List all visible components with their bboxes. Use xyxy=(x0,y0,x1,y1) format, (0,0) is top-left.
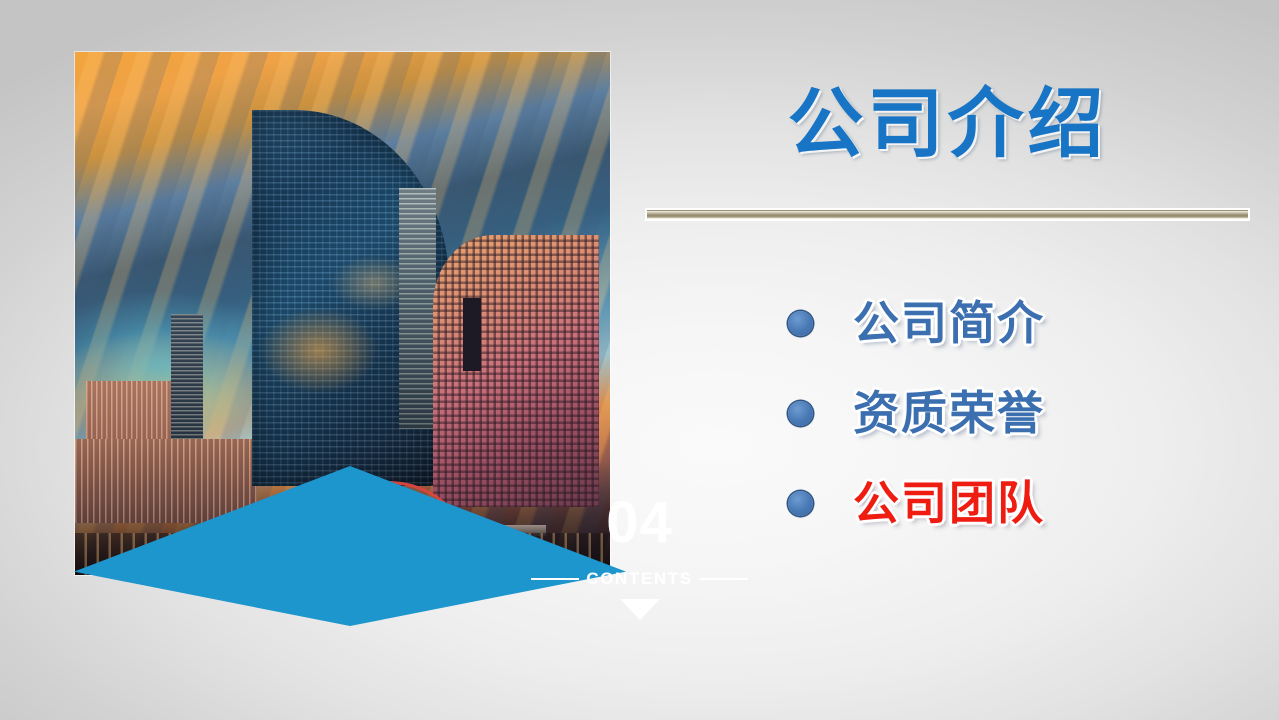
presentation-slide: 04 CONTENTS 公司介绍 公司简介 资质荣誉 公司团队 xyxy=(0,0,1279,720)
contents-rule-right xyxy=(700,578,748,580)
bullet-dot-icon xyxy=(788,401,813,426)
list-item[interactable]: 公司团队 xyxy=(645,458,1250,548)
slim-tower-building xyxy=(399,188,436,429)
title-divider xyxy=(645,208,1250,221)
list-item-label: 公司团队 xyxy=(853,480,1045,526)
contents-label: CONTENTS xyxy=(586,570,692,587)
page-title: 公司介绍 xyxy=(645,85,1250,165)
list-item[interactable]: 资质荣誉 xyxy=(645,368,1250,458)
down-triangle-glyph xyxy=(620,599,660,620)
list-item[interactable]: 公司简介 xyxy=(645,278,1250,368)
bullet-dot-icon xyxy=(788,491,813,516)
list-item-label: 公司简介 xyxy=(853,300,1045,346)
building-notch xyxy=(463,298,481,371)
title-divider-bevel xyxy=(647,210,1248,219)
bullet-dot-icon xyxy=(788,311,813,336)
agenda-list: 公司简介 资质荣誉 公司团队 xyxy=(645,278,1250,548)
list-item-label: 资质荣誉 xyxy=(853,390,1045,436)
grid-window-building xyxy=(433,235,599,507)
contents-rule-left xyxy=(531,578,579,580)
contents-label-group: CONTENTS xyxy=(0,570,1279,587)
down-triangle-icon xyxy=(0,599,1279,620)
